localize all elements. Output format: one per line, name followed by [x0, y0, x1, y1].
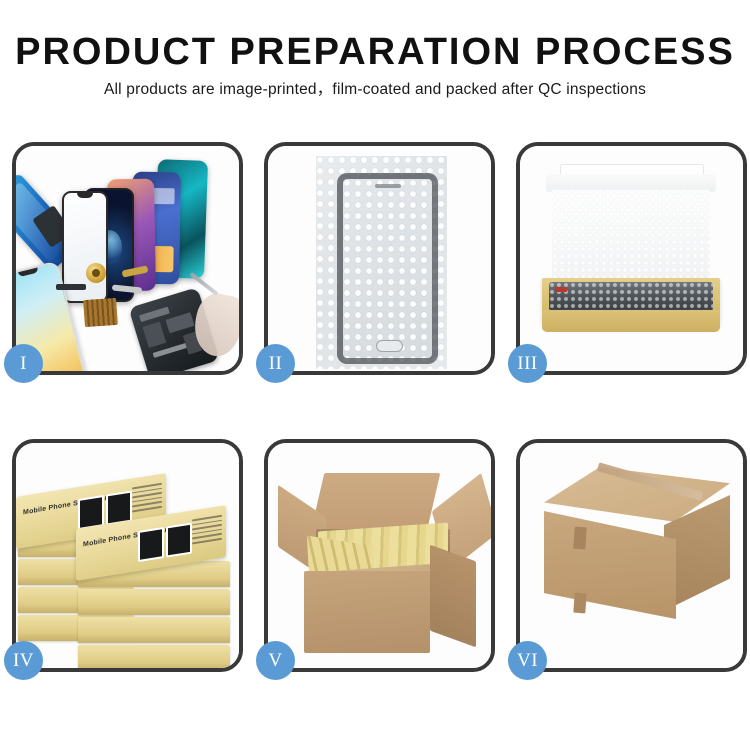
carton-side-panel — [430, 545, 476, 648]
page-header: PRODUCT PREPARATION PROCESS All products… — [0, 30, 750, 100]
box-spec-lines — [132, 483, 162, 520]
step-badge-3: III — [508, 344, 547, 383]
step-3-photo — [520, 146, 743, 371]
step-badge-6: VI — [508, 641, 547, 680]
process-step-6[interactable]: VI — [516, 439, 747, 672]
step-4-photo: Mobile Phone Spare Parts Mobile Phone Sp… — [16, 443, 239, 668]
wrapped-screen — [337, 173, 438, 364]
step-5-photo — [268, 443, 491, 668]
process-step-5[interactable]: V — [264, 439, 495, 672]
flex-cable-dark — [56, 284, 86, 290]
carton-front-face — [544, 511, 676, 619]
box-edge — [78, 645, 230, 668]
box-edge — [78, 617, 230, 643]
step-badge-4: IV — [4, 641, 43, 680]
speaker-part — [86, 263, 106, 283]
sealed-carton — [544, 467, 730, 635]
box-window-right — [166, 523, 192, 558]
open-carton — [290, 483, 478, 653]
box-spec-lines — [192, 515, 222, 552]
step-badge-1: I — [4, 344, 43, 383]
box-window-left — [138, 527, 164, 562]
page-title: PRODUCT PREPARATION PROCESS — [0, 30, 750, 74]
process-step-2[interactable]: II — [264, 142, 495, 375]
connector-grid-part — [83, 298, 118, 327]
step-6-photo — [520, 443, 743, 668]
bubble-wrap-sheet — [316, 156, 447, 369]
step-badge-5: V — [256, 641, 295, 680]
step-badge-2: II — [256, 344, 295, 383]
carton-handle-tab-top — [573, 527, 587, 550]
box-edge — [78, 589, 230, 615]
step-1-photo — [16, 146, 239, 371]
foam-padding — [552, 190, 710, 284]
retail-box-stack: Mobile Phone Spare Parts Mobile Phone Sp… — [16, 459, 239, 659]
product-preparation-page: PRODUCT PREPARATION PROCESS All products… — [0, 0, 750, 750]
carton-front-panel — [304, 571, 430, 653]
kraft-box-open — [538, 158, 724, 348]
process-step-grid: I II — [12, 142, 738, 687]
page-subtitle: All products are image-printed，film-coat… — [0, 80, 750, 100]
process-step-4[interactable]: Mobile Phone Spare Parts Mobile Phone Sp… — [12, 439, 243, 672]
carton-handle-tab-bottom — [573, 593, 586, 614]
process-step-3[interactable]: III — [516, 142, 747, 375]
packed-screen — [549, 282, 713, 311]
process-step-1[interactable]: I — [12, 142, 243, 375]
box-front-panel — [542, 310, 720, 332]
step-2-photo — [268, 146, 491, 371]
